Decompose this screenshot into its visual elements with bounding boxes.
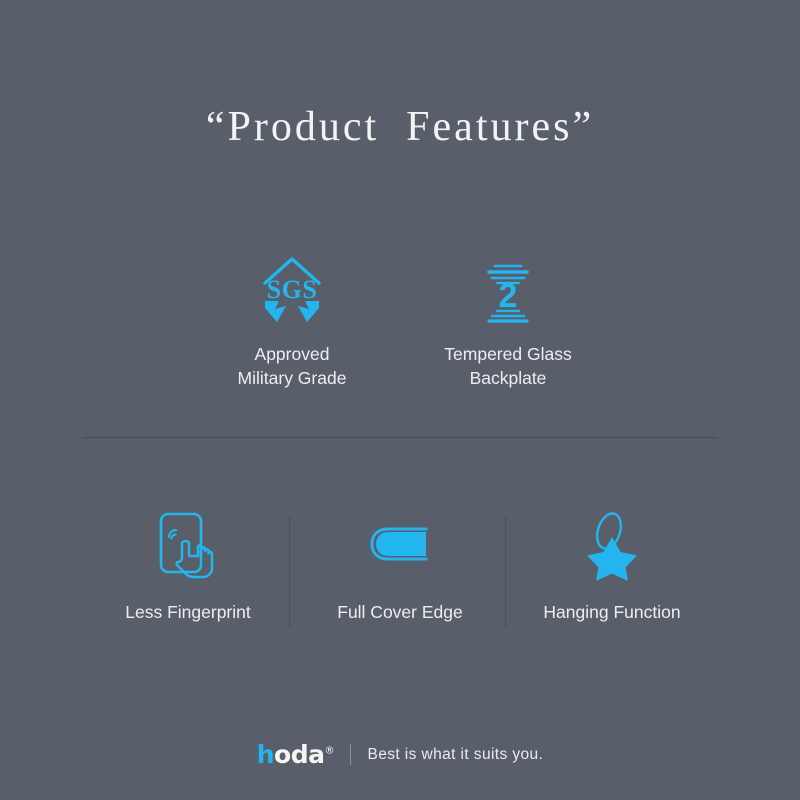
footer: hoda® Best is what it suits you. (0, 742, 800, 767)
feature-label-line2: Backplate (444, 366, 571, 390)
brand-tagline: Best is what it suits you. (367, 746, 543, 764)
feature-label-line1: Full Cover (337, 602, 417, 622)
section-divider (82, 437, 718, 438)
feature-label-line2: Function (613, 602, 680, 622)
feature-label: Less Fingerprint (125, 600, 251, 624)
sgs-certification-icon: SGS (255, 252, 329, 328)
svg-text:2: 2 (499, 277, 518, 315)
feature-item-full-cover-edge: Full Cover Edge (294, 508, 506, 624)
feature-label-line2: Fingerprint (167, 602, 251, 622)
feature-label: Full Cover Edge (337, 600, 463, 624)
feature-label: Hanging Function (543, 600, 680, 624)
feature-label-line2: Military Grade (238, 366, 347, 390)
feature-label-line1: Approved (255, 344, 330, 364)
feature-item-tempered-glass-backplate: 2 Tempered Glass Backplate (400, 252, 616, 390)
footer-separator (350, 744, 351, 765)
top-feature-row: SGS Approved Military Grade (0, 252, 800, 390)
curved-edge-glass-icon (364, 508, 436, 582)
product-features-page: “Product Features” SGS Approved Military… (0, 0, 800, 800)
phone-touch-fingerprint-icon (155, 508, 221, 582)
feature-item-less-fingerprint: Less Fingerprint (82, 508, 294, 624)
tempered-glass-layers-2-icon: 2 (471, 252, 545, 328)
page-title: “Product Features” (0, 104, 800, 150)
feature-label-line2: Edge (422, 602, 463, 622)
page-title-container: “Product Features” (0, 104, 800, 150)
feature-label-line1: Hanging (543, 602, 608, 622)
feature-item-approved-military-grade: SGS Approved Military Grade (184, 252, 400, 390)
bottom-feature-row: Less Fingerprint Full Cover Edge (0, 508, 800, 624)
feature-label: Tempered Glass Backplate (444, 342, 571, 390)
brand-logo-rest: oda (274, 740, 324, 769)
feature-label-line1: Tempered Glass (444, 344, 571, 364)
feature-item-hanging-function: Hanging Function (506, 508, 718, 624)
column-divider-1 (289, 516, 290, 628)
svg-text:SGS: SGS (267, 275, 318, 304)
feature-label: Approved Military Grade (238, 342, 347, 390)
brand-logo-h: h (257, 740, 274, 769)
feature-label-line1: Less (125, 602, 162, 622)
column-divider-2 (505, 516, 506, 628)
hanging-star-icon (581, 508, 643, 582)
brand-logo: hoda® (257, 742, 335, 767)
registered-trademark-icon: ® (324, 746, 334, 757)
